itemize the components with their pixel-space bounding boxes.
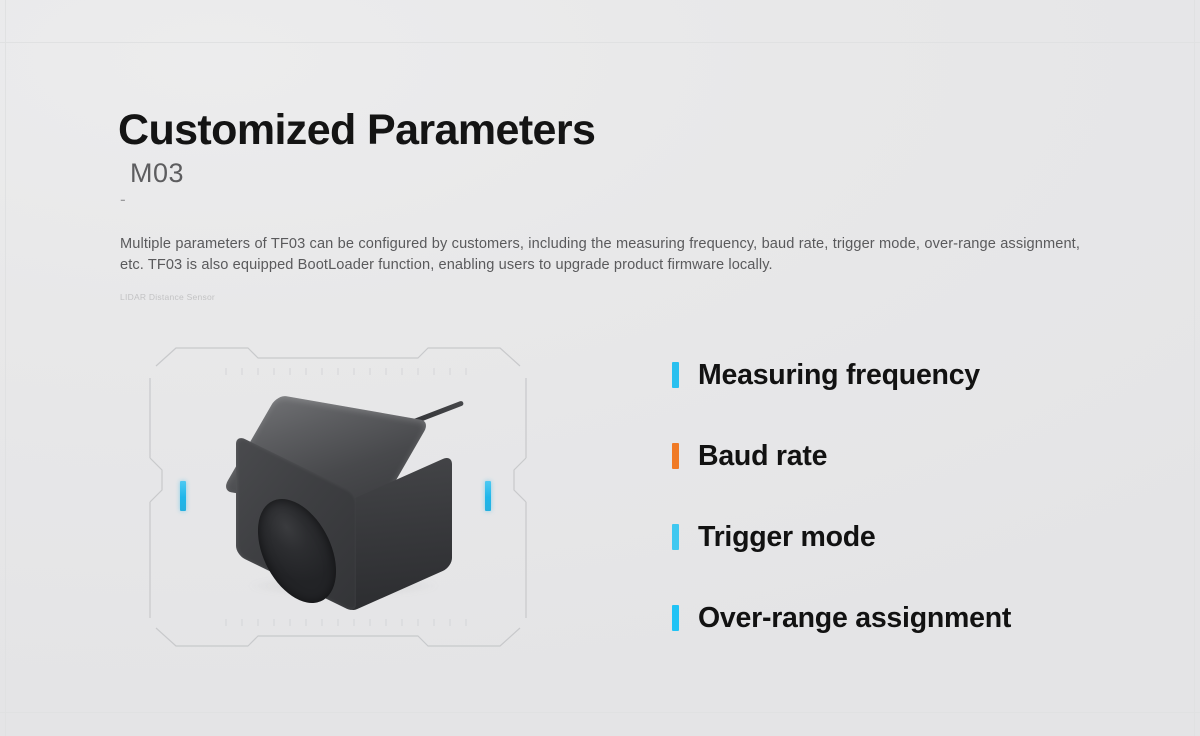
page-rule-right: [1194, 0, 1195, 736]
hud-marker-left: [180, 481, 186, 511]
page-rule-top: [0, 42, 1200, 43]
description-paragraph: Multiple parameters of TF03 can be confi…: [120, 234, 1080, 276]
feature-label: Measuring frequency: [698, 359, 980, 392]
feature-item-over-range-assignment: Over-range assignment: [672, 595, 1132, 641]
product-stage: [148, 338, 528, 656]
bullet-bar-icon: [672, 605, 679, 631]
page-title: Customized Parameters: [118, 108, 1098, 153]
feature-label: Trigger mode: [698, 521, 876, 554]
lidar-sensor-image: [236, 408, 446, 593]
feature-item-trigger-mode: Trigger mode: [672, 514, 1132, 560]
feature-label: Over-range assignment: [698, 602, 1011, 635]
hud-marker-right: [485, 481, 491, 511]
feature-item-baud-rate: Baud rate: [672, 433, 1132, 479]
bullet-bar-icon: [672, 443, 679, 469]
feature-list: Measuring frequency Baud rate Trigger mo…: [672, 352, 1132, 641]
page-rule-bottom: [0, 712, 1200, 713]
page-rule-left: [5, 0, 6, 736]
feature-label: Baud rate: [698, 440, 827, 473]
feature-item-measuring-frequency: Measuring frequency: [672, 352, 1132, 398]
model-subtitle: M03: [130, 159, 1098, 189]
product-caption: LIDAR Distance Sensor: [120, 292, 215, 302]
header-block: Customized Parameters M03 -: [118, 108, 1098, 205]
slide-canvas: Customized Parameters M03 - Multiple par…: [0, 0, 1200, 736]
bullet-bar-icon: [672, 524, 679, 550]
bullet-bar-icon: [672, 362, 679, 388]
title-divider-dash: -: [120, 191, 1098, 205]
